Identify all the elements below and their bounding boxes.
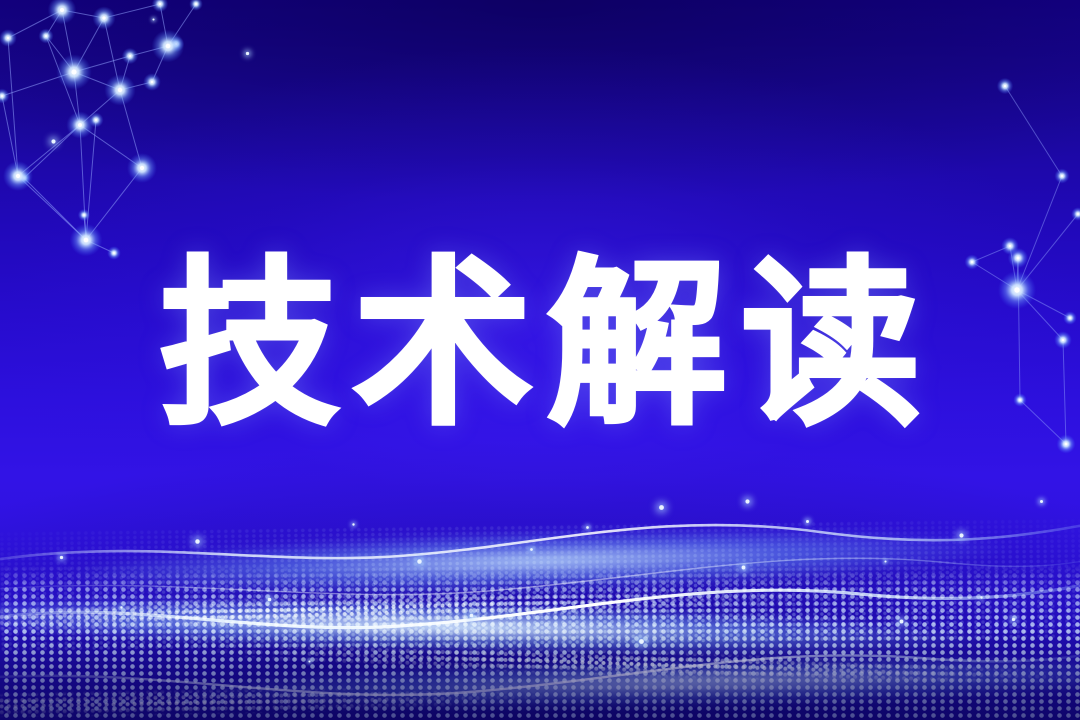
crest-upper (0, 522, 1080, 562)
tech-banner-canvas: 技术解读 (0, 0, 1080, 720)
crest-lower (0, 652, 1080, 695)
particle-wave-landscape (0, 470, 1080, 720)
wave-crest-lines (0, 470, 1080, 720)
crest-mid (0, 582, 1080, 628)
crest-faint (0, 558, 1080, 595)
